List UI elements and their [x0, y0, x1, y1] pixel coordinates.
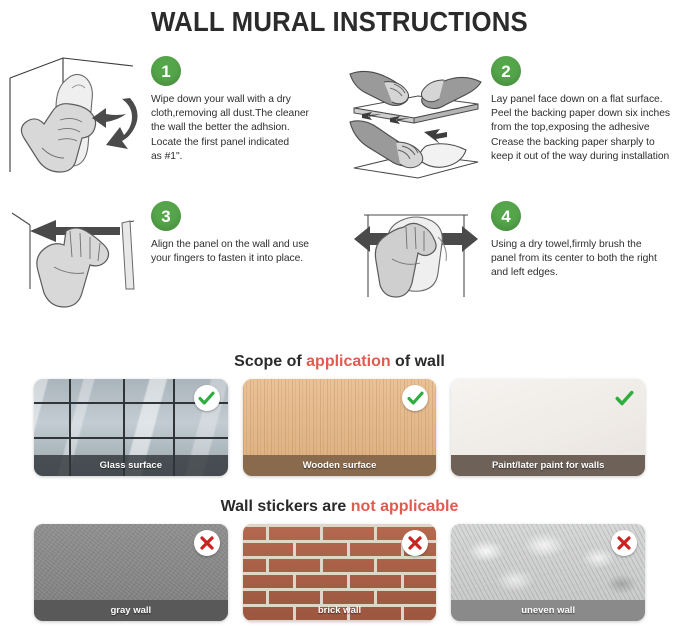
step-1-body: 1 Wipe down your wall with a dry cloth,r… [143, 52, 334, 197]
surface-card-wood[interactable]: Wooden surface [243, 379, 437, 476]
step-2-number-badge: 2 [491, 56, 521, 86]
step-1-number-badge: 1 [151, 56, 181, 86]
step-2-illustration [348, 52, 483, 197]
step-2-text: Lay panel face down on a flat surface. P… [491, 93, 673, 164]
surface-label-uneven-wall: uneven wall [451, 600, 645, 621]
hand-wiping-wall-icon [8, 52, 143, 192]
step-4: 4 Using a dry towel,firmly brush the pan… [340, 197, 679, 312]
close-icon [199, 535, 215, 551]
towel-brush-both-directions-icon [348, 197, 483, 309]
close-icon [407, 535, 423, 551]
step-4-body: 4 Using a dry towel,firmly brush the pan… [483, 197, 673, 312]
step-3-illustration [8, 197, 143, 312]
check-badge [611, 385, 637, 411]
step-4-number-badge: 4 [491, 201, 521, 231]
peeling-backing-paper-icon [348, 52, 483, 192]
applicable-card-row: Glass surface Wooden surface Paint/later… [0, 379, 679, 476]
surface-label-wood: Wooden surface [243, 455, 437, 476]
step-1: 1 Wipe down your wall with a dry cloth,r… [0, 52, 340, 197]
surface-card-glass[interactable]: Glass surface [34, 379, 228, 476]
surface-card-paint[interactable]: Paint/later paint for walls [451, 379, 645, 476]
step-4-text: Using a dry towel,firmly brush the panel… [491, 238, 673, 281]
check-icon [615, 389, 634, 408]
close-icon [616, 535, 632, 551]
surface-card-brick-wall[interactable]: brick wall [243, 524, 437, 621]
surface-label-glass: Glass surface [34, 455, 228, 476]
step-3-number-badge: 3 [151, 201, 181, 231]
not-applicable-card-row: gray wall [0, 524, 679, 621]
steps-grid: 1 Wipe down your wall with a dry cloth,r… [0, 52, 679, 312]
step-1-text: Wipe down your wall with a dry cloth,rem… [151, 93, 334, 164]
applicable-heading-before: Scope of [234, 353, 306, 370]
cross-badge [611, 530, 637, 556]
surface-label-brick-wall: brick wall [243, 600, 437, 621]
step-4-illustration [348, 197, 483, 312]
step-3-body: 3 Align the panel on the wall and use yo… [143, 197, 334, 312]
check-badge [194, 385, 220, 411]
step-1-illustration [8, 52, 143, 197]
step-2: 2 Lay panel face down on a flat surface.… [340, 52, 679, 197]
check-icon [198, 390, 215, 407]
surface-card-gray-wall[interactable]: gray wall [34, 524, 228, 621]
glass-transom [34, 437, 228, 439]
cross-badge [194, 530, 220, 556]
surface-card-uneven-wall[interactable]: uneven wall [451, 524, 645, 621]
surface-label-paint: Paint/later paint for walls [451, 455, 645, 476]
applicable-heading-after: of wall [391, 353, 445, 370]
applicable-heading-accent: application [306, 353, 390, 370]
step-3-text: Align the panel on the wall and use your… [151, 238, 334, 266]
not-applicable-heading-accent: not applicable [351, 498, 459, 515]
not-applicable-heading-before: Wall stickers are [221, 498, 351, 515]
applicable-heading: Scope of application of wall [0, 353, 679, 371]
step-3: 3 Align the panel on the wall and use yo… [0, 197, 340, 312]
check-icon [407, 390, 424, 407]
page-title: WALL MURAL INSTRUCTIONS [27, 0, 652, 38]
align-panel-hand-icon [8, 197, 143, 309]
step-2-body: 2 Lay panel face down on a flat surface.… [483, 52, 673, 197]
not-applicable-heading: Wall stickers are not applicable [0, 498, 679, 516]
surface-label-gray-wall: gray wall [34, 600, 228, 621]
